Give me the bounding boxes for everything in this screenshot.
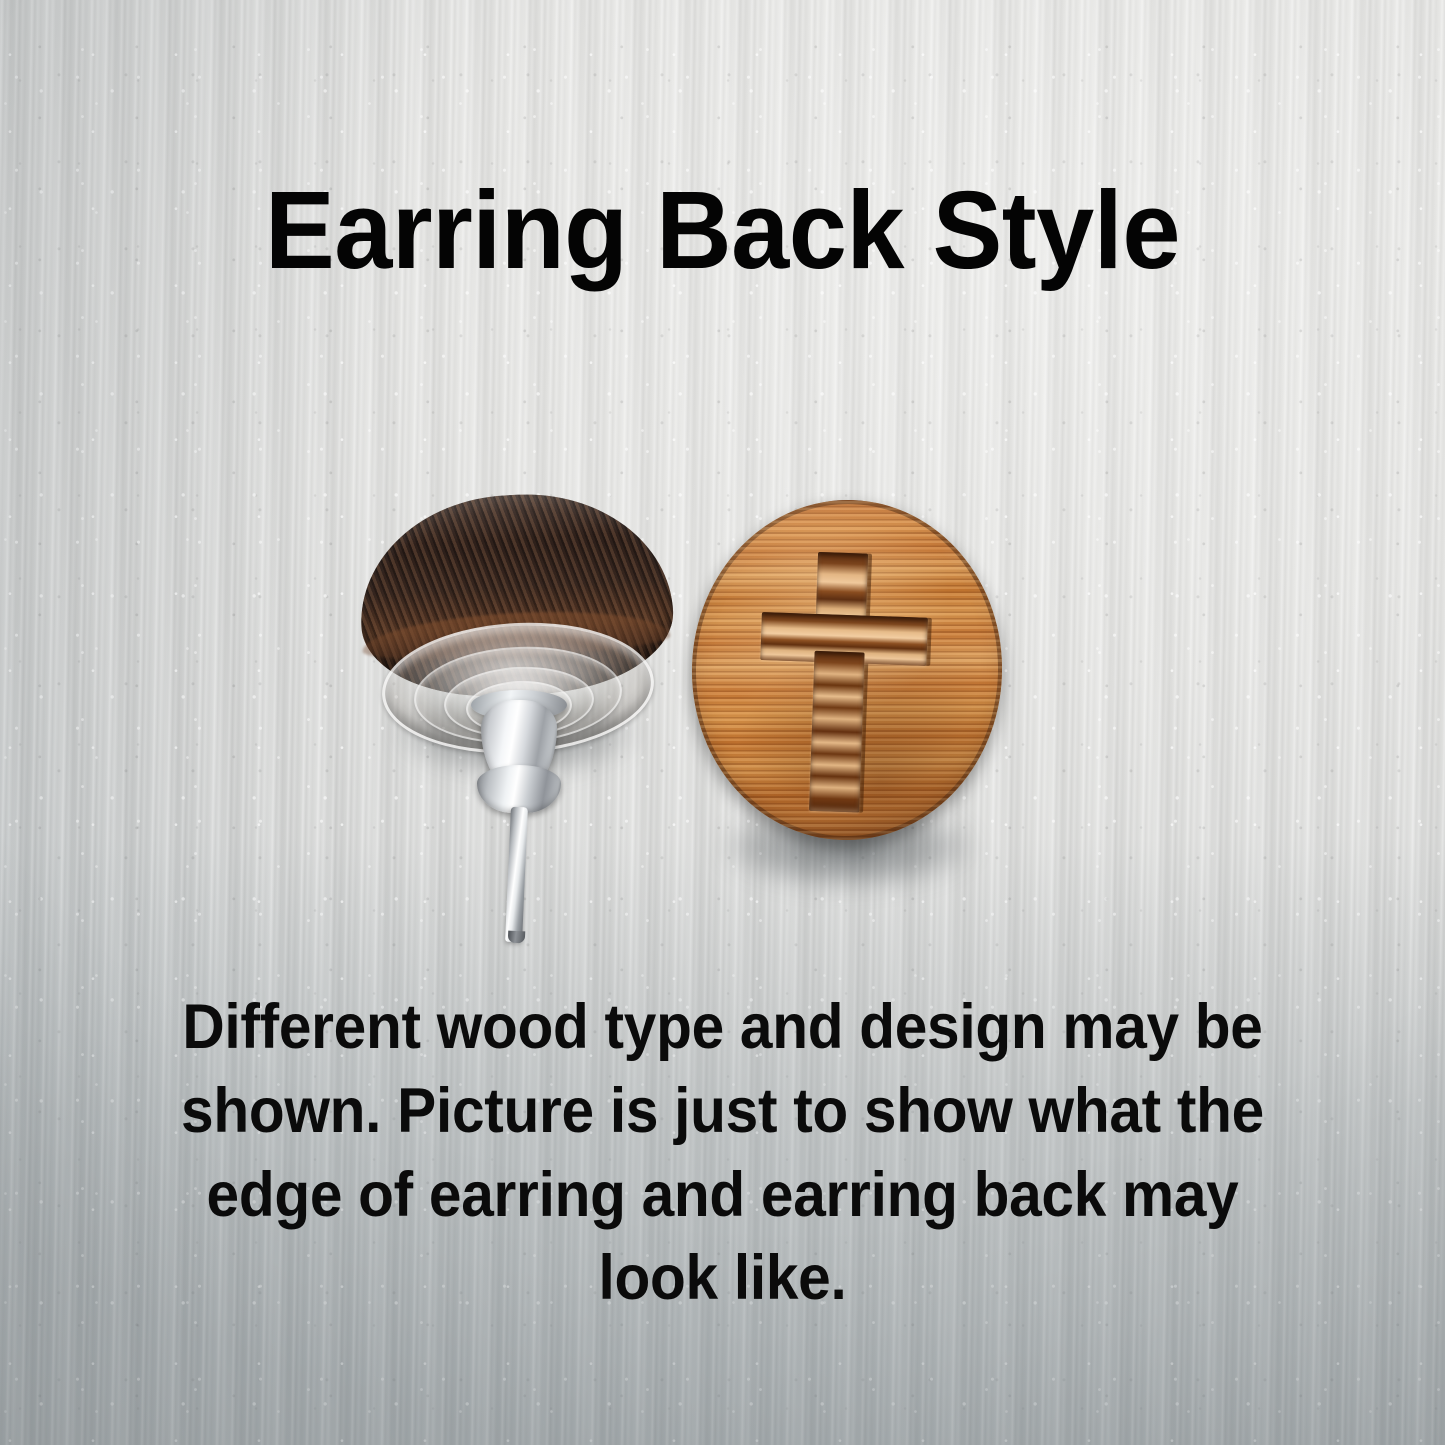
left-earring-post-tip bbox=[508, 931, 526, 944]
left-earring-clutch-base bbox=[477, 765, 561, 813]
caption-line-1: Different wood type and design may be bbox=[77, 986, 1369, 1070]
right-earring-face-view bbox=[668, 500, 1028, 920]
left-earring-metal-post bbox=[505, 807, 528, 943]
earring-back-style-graphic: Earring Back Style bbox=[0, 0, 1445, 1445]
page-title: Earring Back Style bbox=[36, 176, 1409, 286]
caption-line-4: look like. bbox=[77, 1237, 1369, 1321]
disclaimer-caption: Different wood type and design may be sh… bbox=[77, 986, 1369, 1321]
caption-line-3: edge of earring and earring back may bbox=[77, 1154, 1369, 1238]
cross-lower-stem bbox=[809, 651, 865, 813]
caption-line-2: shown. Picture is just to show what the bbox=[77, 1070, 1369, 1154]
product-photo bbox=[0, 440, 1445, 1000]
left-earring-edge-view bbox=[352, 495, 682, 955]
cross-engraving bbox=[686, 495, 1008, 846]
